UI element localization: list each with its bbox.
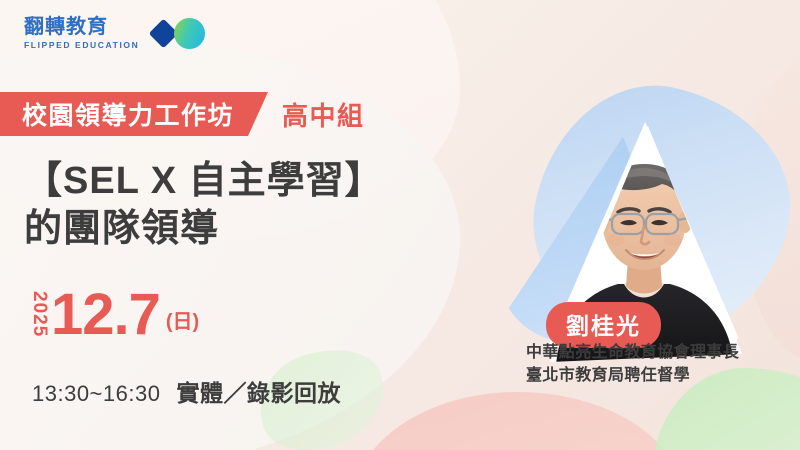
event-date: 2025 12.7 (日)	[30, 288, 199, 341]
banner-red-strip: 校園領導力工作坊	[0, 92, 268, 136]
date-year: 2025	[30, 291, 49, 337]
schedule-format: 實體／錄影回放	[176, 374, 341, 408]
brand-logo-text: 翻轉教育 FLIPPED EDUCATION	[24, 17, 139, 50]
page-title: 【SEL X 自主學習】 的團隊領導	[24, 158, 384, 254]
banner-workshop-label: 校園領導力工作坊	[22, 96, 234, 132]
event-schedule: 13:30~16:30 實體／錄影回放	[32, 374, 341, 408]
poster-canvas: 翻轉教育 FLIPPED EDUCATION 校園領導力工作坊 高中組 【SEL…	[0, 0, 800, 450]
brand-name-cjk: 翻轉教育	[24, 17, 139, 37]
brand-logo[interactable]: 翻轉教育 FLIPPED EDUCATION	[24, 16, 215, 50]
schedule-time-range: 13:30~16:30	[32, 381, 160, 407]
credential-line-1: 中華點亮生命教育協會理事長	[526, 342, 739, 365]
date-month-day: 12.7	[51, 288, 160, 341]
workshop-banner: 校園領導力工作坊 高中組	[0, 92, 365, 136]
gradient-circle-icon	[174, 18, 205, 49]
banner-group-label: 高中組	[282, 96, 365, 133]
title-line-1: 【SEL X 自主學習】	[24, 158, 384, 206]
brand-logo-mark-icon	[153, 16, 215, 50]
title-line-2: 的團隊領導	[24, 206, 384, 254]
brand-name-latin: FLIPPED EDUCATION	[24, 41, 139, 50]
date-weekday: (日)	[166, 305, 199, 334]
speaker-credentials: 中華點亮生命教育協會理事長 臺北市教育局聘任督學	[526, 342, 739, 387]
speaker-block: 劉桂光 中華點亮生命教育協會理事長 臺北市教育局聘任督學	[498, 120, 800, 450]
credential-line-2: 臺北市教育局聘任督學	[526, 365, 739, 388]
